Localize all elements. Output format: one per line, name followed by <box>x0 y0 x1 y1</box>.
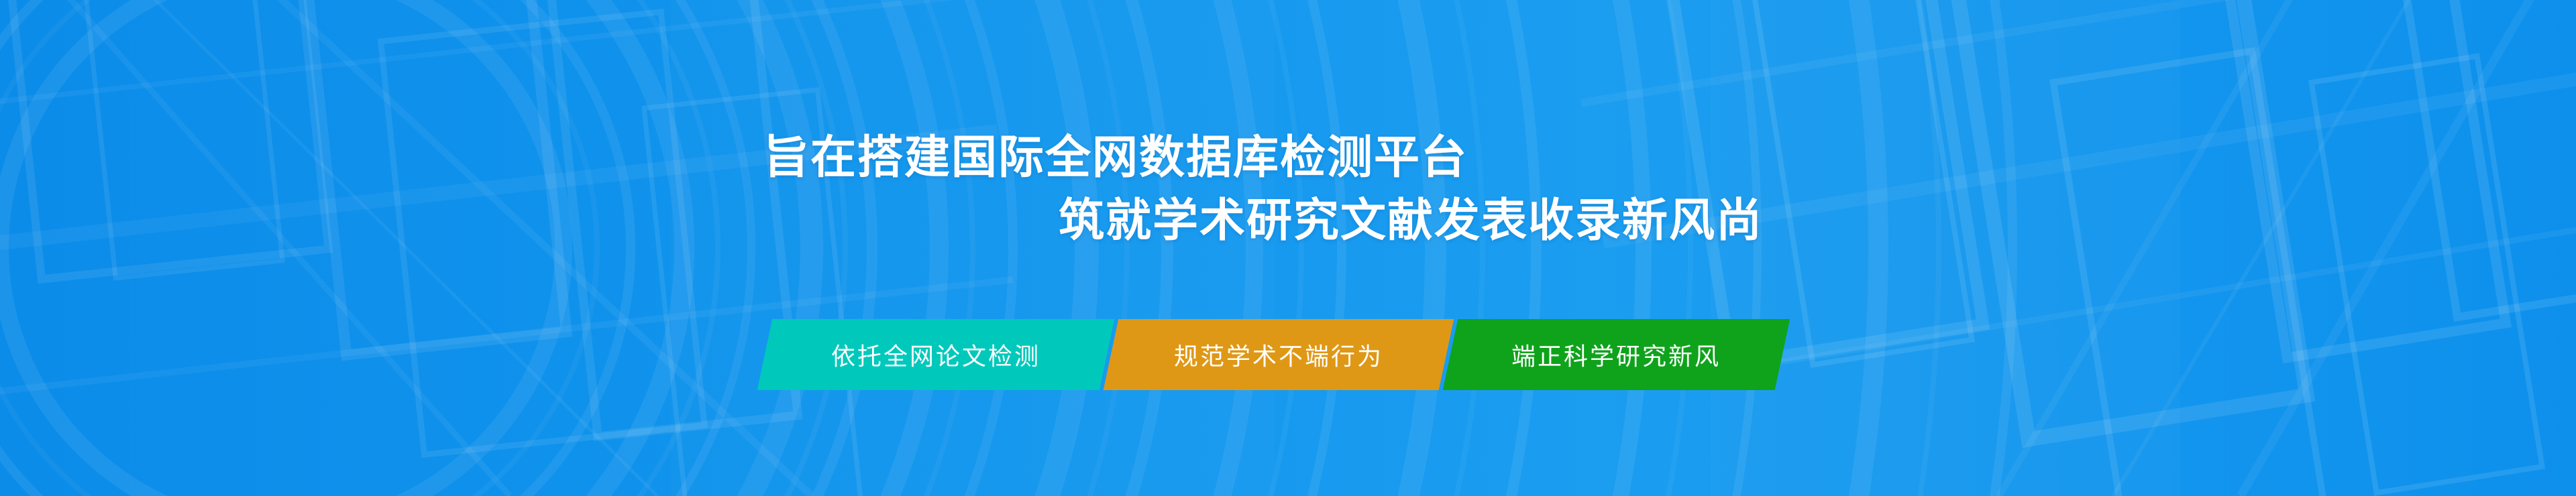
promotional-banner: 旨在搭建国际全网数据库检测平台 筑就学术研究文献发表收录新风尚 依托全网论文检测… <box>0 0 2576 496</box>
feature-tab-label: 依托全网论文检测 <box>831 337 1040 372</box>
feature-tab-academic-misconduct[interactable]: 规范学术不端行为 <box>1104 319 1454 390</box>
feature-tab-strip: 依托全网论文检测 规范学术不端行为 端正科学研究新风 <box>765 319 1782 390</box>
headline-line-2: 筑就学术研究文献发表收录新风尚 <box>1059 194 1763 247</box>
feature-tab-label: 规范学术不端行为 <box>1174 337 1383 372</box>
feature-tab-label: 端正科学研究新风 <box>1511 337 1721 372</box>
feature-tab-research-ethics[interactable]: 端正科学研究新风 <box>1443 319 1790 390</box>
headline-block: 旨在搭建国际全网数据库检测平台 筑就学术研究文献发表收录新风尚 <box>0 0 2576 496</box>
feature-tab-paper-detection[interactable]: 依托全网论文检测 <box>757 319 1115 390</box>
headline-line-1: 旨在搭建国际全网数据库检测平台 <box>763 131 1468 184</box>
